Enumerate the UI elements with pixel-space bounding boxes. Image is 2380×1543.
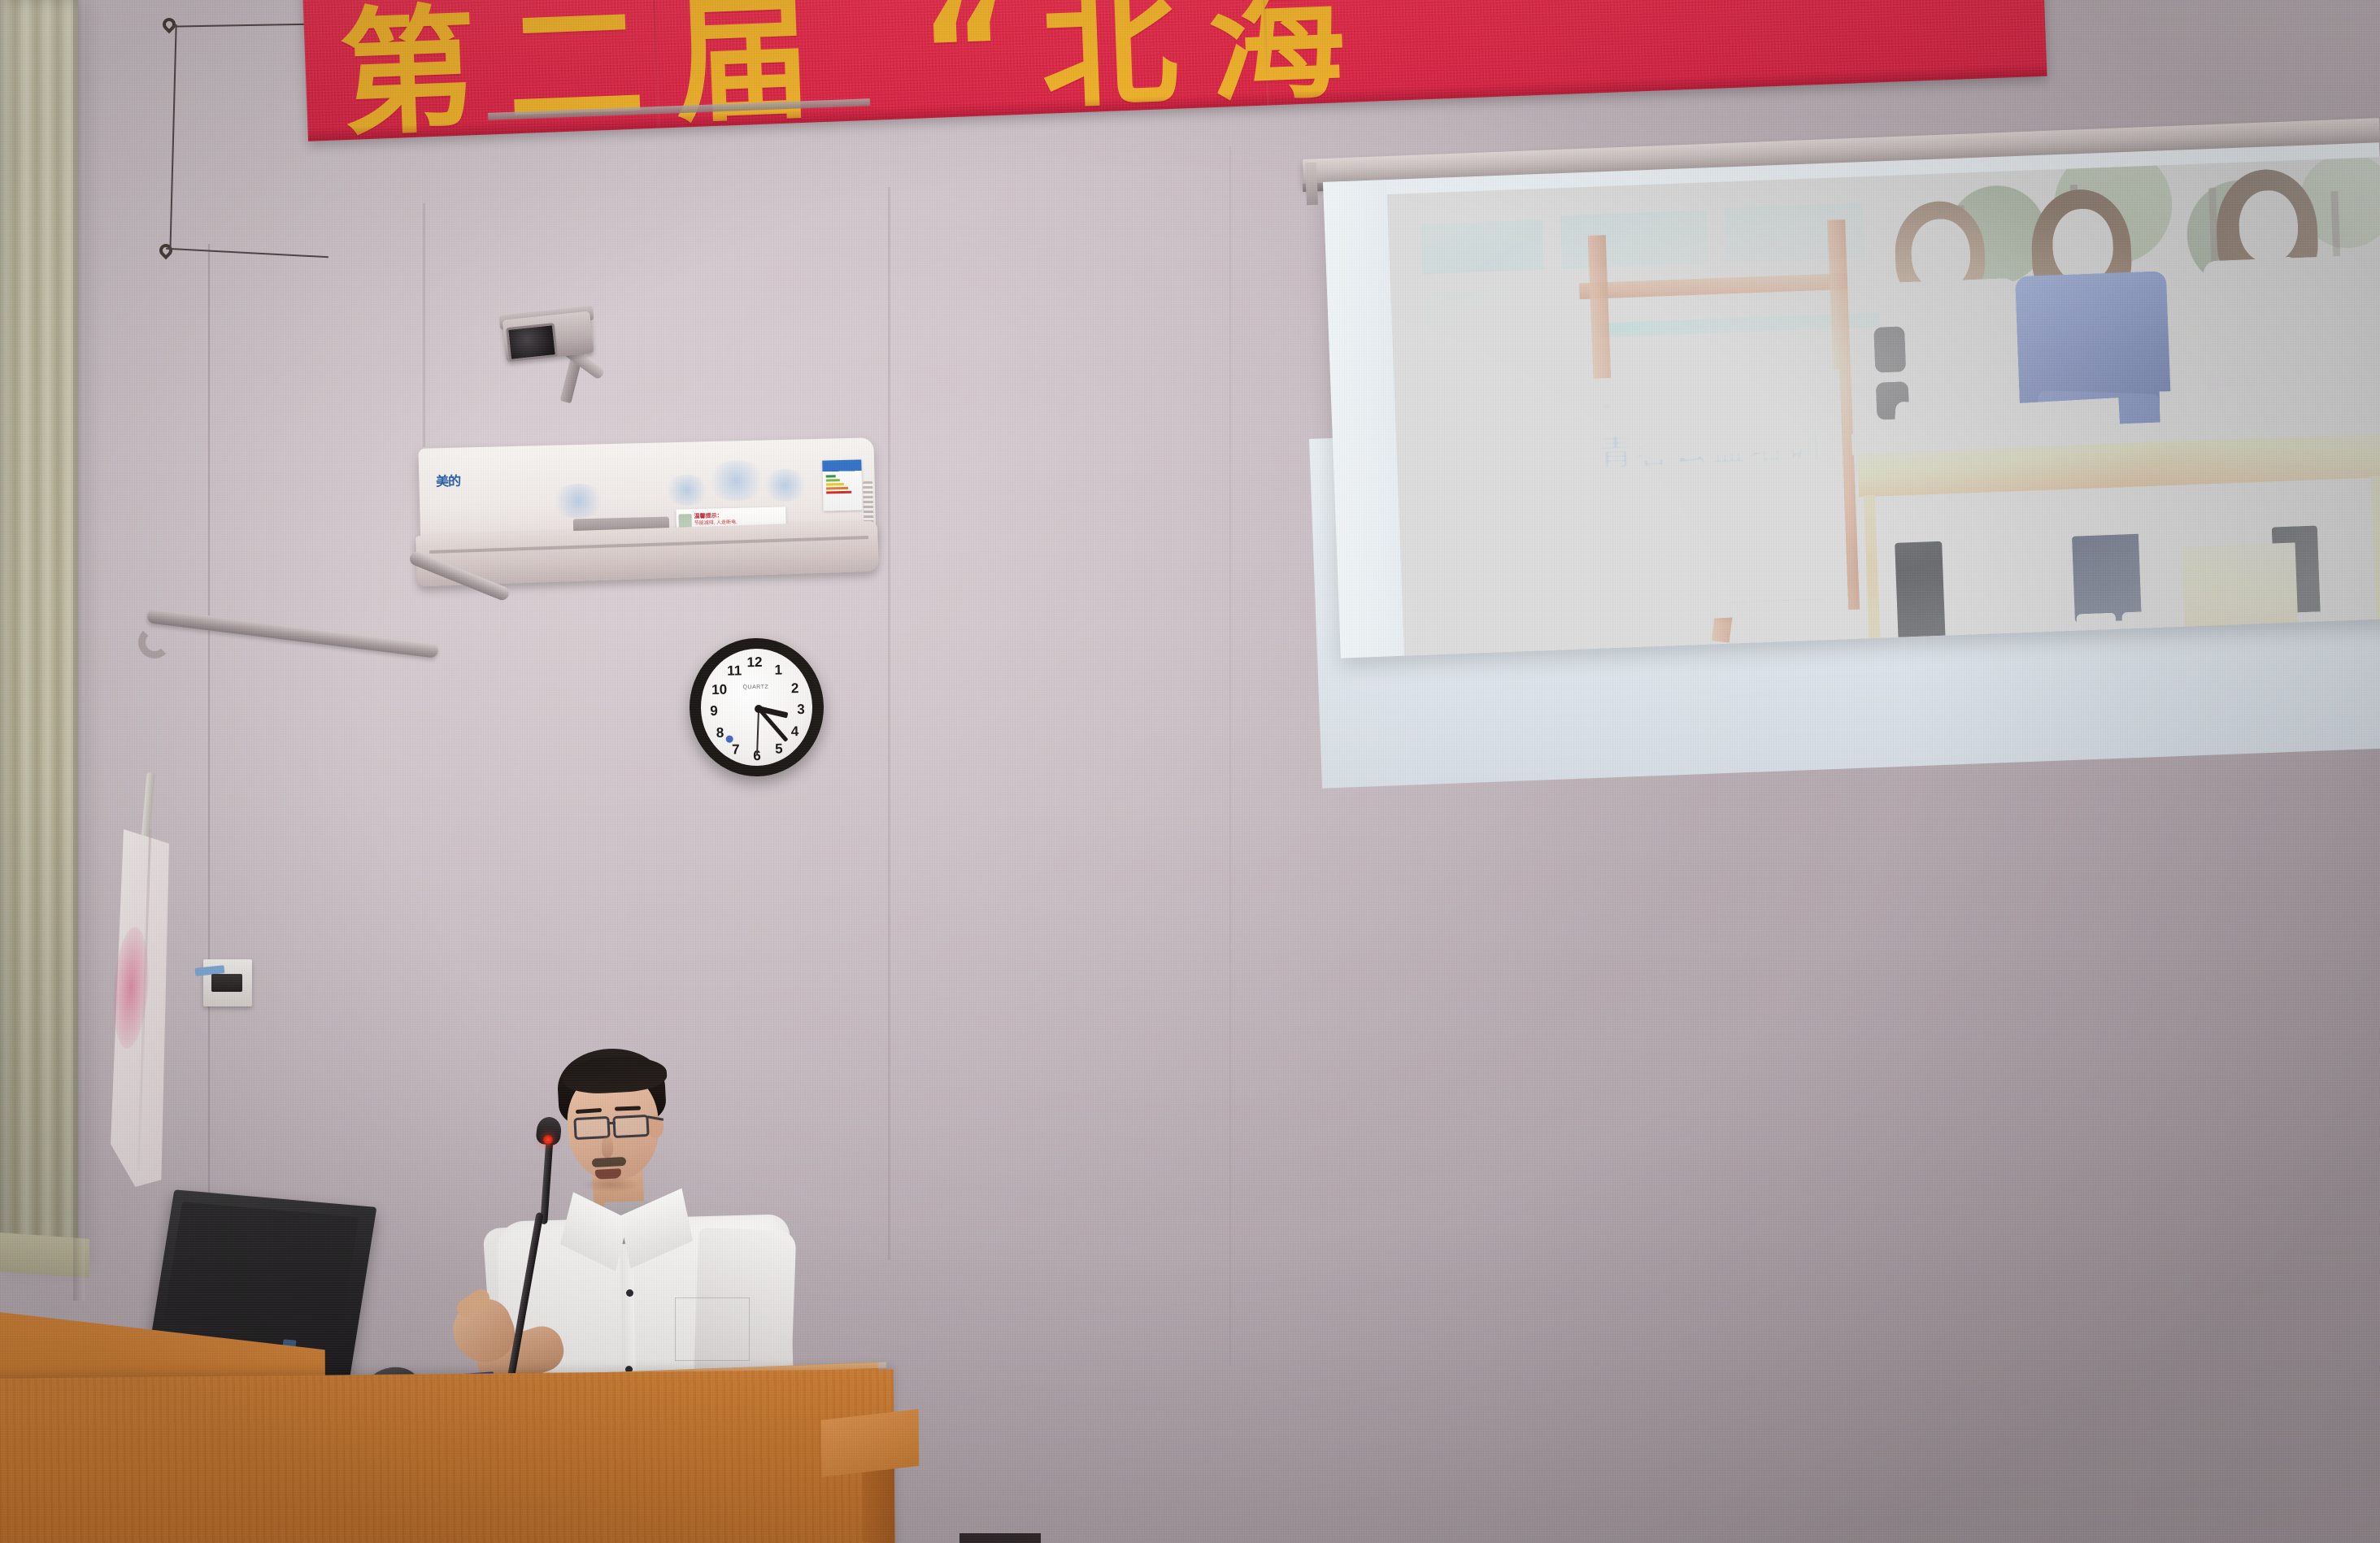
wall-seam-left [208, 244, 210, 1268]
speaker-shirt-pocket [675, 1297, 750, 1361]
ac-brand-logo: 美的 [436, 469, 485, 488]
clock-numeral-4: 4 [785, 723, 803, 741]
clock-numeral-10: 10 [710, 681, 728, 699]
monitor-rear-bevel [163, 1202, 359, 1338]
curtain-shading [0, 0, 78, 1268]
slide-poster: 青春公益培训 志愿者 · 报名登记 [1579, 369, 1848, 623]
glasses-bridge [609, 1122, 616, 1124]
speaker-moustache [592, 1157, 627, 1167]
glasses-lens-right [612, 1115, 649, 1138]
screen-wall-bracket [1305, 163, 1318, 205]
wall-switch-box[interactable] [203, 959, 252, 1006]
ac-drain-pipe-elbow [138, 626, 171, 658]
slide-poster-subtitle: 志愿者 · 报名登记 [1622, 467, 1756, 493]
photo-scene: 第二届 “北海 美的 温馨提示： 节能减排, 人走断电, 节约电资源, 节约每滴… [0, 0, 2380, 1543]
light-switch[interactable] [211, 974, 242, 992]
projection-screen: 青春公益培训 志愿者 · 报名登记 [1323, 142, 2380, 658]
clock-numeral-5: 5 [770, 740, 788, 758]
clock-numeral-12: 12 [746, 654, 764, 672]
ac-stain-1 [550, 483, 607, 519]
clock-numeral-3: 3 [792, 701, 810, 719]
wall-seam-far-right [1229, 146, 1231, 1366]
clock-blue-marker [726, 736, 733, 743]
slide-poster-header-lines [1627, 389, 1826, 415]
wall-corner-strip [73, 0, 85, 1301]
speaker-nose [602, 1137, 613, 1158]
lectern-wood-grain [0, 1369, 895, 1543]
speaker-shirt-button-1 [626, 1289, 633, 1297]
ac-stain-4 [760, 468, 810, 502]
wall-seam-mid [423, 203, 425, 447]
clock-brand-text: QUARTZ [743, 685, 769, 691]
speaker-chin-shadow [582, 1177, 639, 1192]
clock-numeral-11: 11 [725, 662, 743, 680]
slide-poster-logo [1595, 396, 1620, 418]
lectern-top-right-corner [821, 1409, 920, 1477]
slide-poster-body-lines [1616, 493, 1824, 606]
energy-rating-bars [826, 475, 851, 493]
floor-shadow-edge [959, 1533, 1041, 1543]
projected-slide: 青春公益培训 志愿者 · 报名登记 [1387, 157, 2380, 656]
wall-seam-right [888, 187, 890, 1260]
ac-stain-3 [705, 459, 768, 502]
slide-white-bag [2138, 519, 2179, 624]
wooden-lectern [0, 1369, 895, 1543]
clock-numeral-9: 9 [705, 702, 723, 720]
microphone-indicator-led [543, 1135, 553, 1145]
ac-stain-2 [663, 474, 711, 506]
camera-lens-icon [506, 323, 558, 362]
ac-energy-label [822, 459, 863, 511]
clock-numeral-7: 7 [727, 741, 745, 758]
clock-numeral-2: 2 [785, 680, 803, 698]
clock-face: 12 1 2 3 4 5 6 7 8 9 10 11 QUARTZ [700, 648, 813, 767]
slide-cardboard-box [2182, 542, 2299, 628]
clock-numeral-1: 1 [769, 661, 787, 679]
